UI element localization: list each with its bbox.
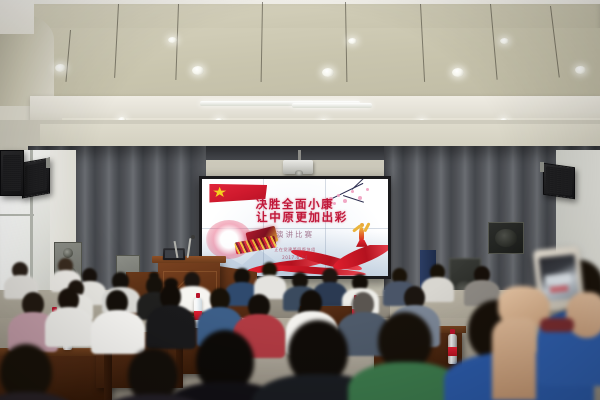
wrist-band (540, 318, 574, 332)
person-shoulders (91, 310, 145, 354)
ceiling-downlight (322, 68, 334, 77)
bottle-cap (450, 329, 455, 334)
window-frame (0, 214, 34, 216)
person-shoulders (45, 307, 93, 347)
ceiling-left-corner (0, 0, 34, 34)
screen-surface: 决胜全面小康 让中原更加出彩 演讲比赛 正在党建第四版块组 2017.6.14 (202, 179, 388, 276)
desk-leg (104, 352, 112, 400)
ceiling-downlight (168, 37, 177, 43)
conference-hall-photo: 决胜全面小康 让中原更加出彩 演讲比赛 正在党建第四版块组 2017.6.14 (0, 0, 600, 400)
forearm (492, 318, 536, 400)
ceiling-downlight (500, 38, 509, 44)
ceiling-downlight (348, 38, 357, 44)
wall-speaker-left-outer (0, 150, 24, 196)
screen-organizer: 正在党建第四版块组 (202, 247, 388, 253)
phone-screen-highlight (545, 273, 572, 286)
phone-screen-highlight (550, 285, 569, 293)
speaker-grill (546, 167, 571, 196)
speaker-grill (25, 162, 47, 194)
fluorescent-strip-light (292, 103, 372, 108)
person-shoulders (421, 277, 454, 302)
microphone-head (191, 235, 195, 239)
speaker-tweeter (63, 248, 73, 259)
blossom (337, 194, 340, 197)
speaker-mount-bracket (540, 162, 544, 172)
screen-title-line2: 让中原更加出彩 (202, 211, 388, 224)
ceiling-downlight (192, 66, 204, 75)
person-head (128, 348, 178, 400)
speaker-grill (3, 155, 21, 192)
speaker-cone (495, 229, 517, 247)
screen-title: 决胜全面小康 让中原更加出彩 (202, 198, 388, 224)
ceiling-downlight (452, 68, 464, 77)
water-bottle (448, 334, 457, 364)
screen-date: 2017.6.14 (202, 255, 388, 260)
wall-speaker-right (543, 163, 575, 199)
person-shoulders (146, 305, 196, 349)
ceiling-panel-band-lower (36, 28, 600, 100)
speaker-mount-bracket (46, 158, 50, 168)
laptop (163, 248, 186, 260)
laptop-screen (165, 250, 183, 258)
bottle-cap (196, 293, 200, 298)
screen-subtitle: 演讲比赛 (202, 229, 388, 240)
ceiling-downlight (55, 64, 66, 72)
led-video-wall: 决胜全面小康 让中原更加出彩 演讲比赛 正在党建第四版块组 2017.6.14 (199, 176, 391, 279)
wall-speaker-right-lower (488, 222, 524, 254)
blossom (366, 188, 369, 191)
blossom (351, 190, 354, 193)
ceiling-downlight (575, 66, 586, 74)
bottle-label (448, 347, 457, 356)
